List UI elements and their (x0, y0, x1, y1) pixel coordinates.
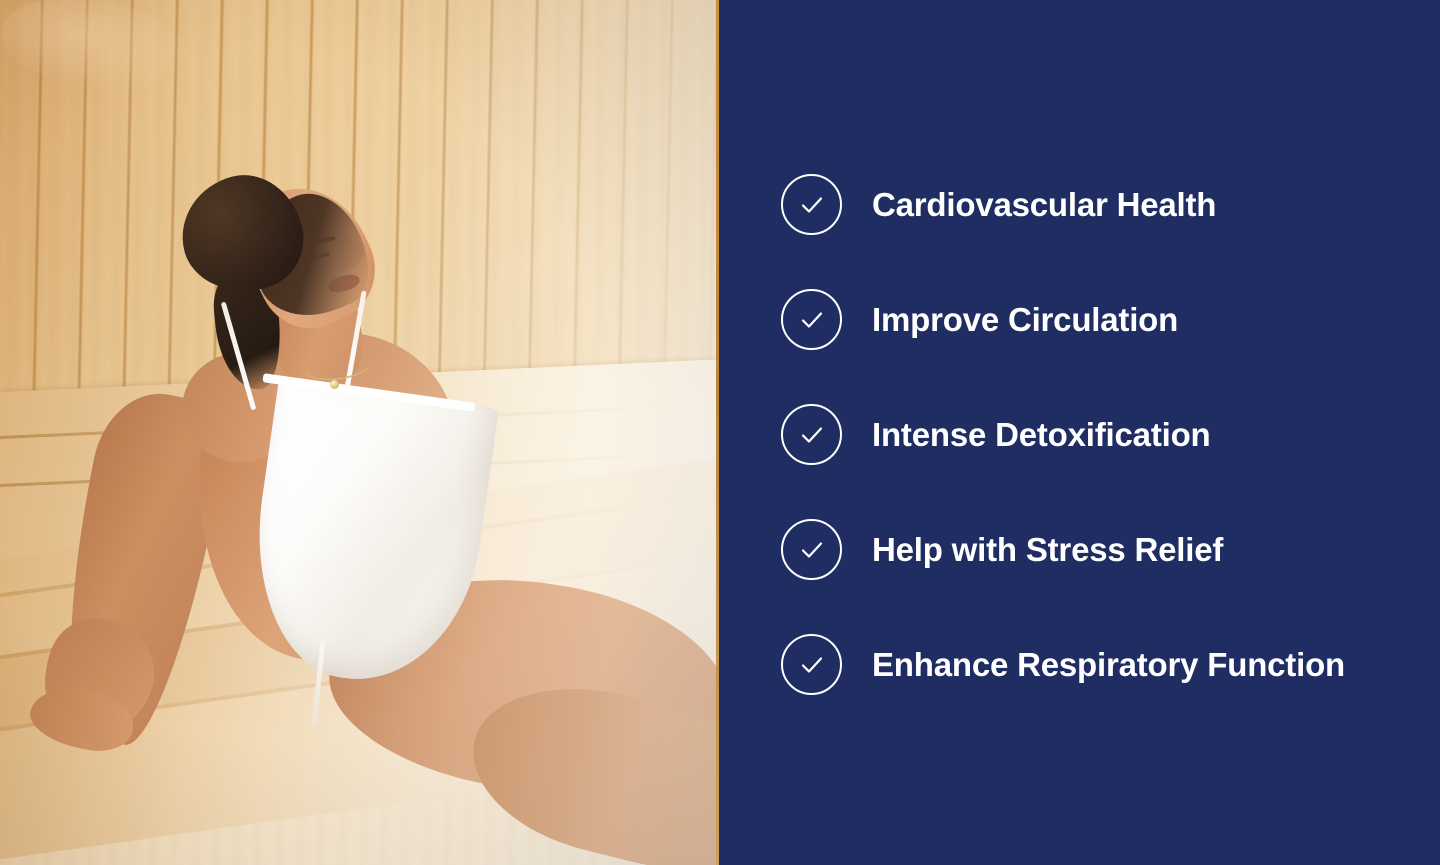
benefit-item-intense-detoxification: Intense Detoxification (781, 404, 1345, 465)
benefit-label: Enhance Respiratory Function (872, 648, 1345, 681)
benefit-item-enhance-respiratory-function: Enhance Respiratory Function (781, 634, 1345, 695)
benefits-panel: Cardiovascular Health Improve Circulatio… (719, 0, 1440, 865)
benefits-list: Cardiovascular Health Improve Circulatio… (781, 174, 1345, 695)
benefit-label: Improve Circulation (872, 303, 1178, 336)
check-circle-icon (781, 519, 842, 580)
benefit-label: Intense Detoxification (872, 418, 1211, 451)
benefit-label: Cardiovascular Health (872, 188, 1216, 221)
check-circle-icon (781, 634, 842, 695)
check-circle-icon (781, 174, 842, 235)
check-circle-icon (781, 289, 842, 350)
benefit-item-help-with-stress-relief: Help with Stress Relief (781, 519, 1345, 580)
check-circle-icon (781, 404, 842, 465)
benefit-label: Help with Stress Relief (872, 533, 1223, 566)
woman-figure (0, 0, 719, 865)
sauna-photo (0, 0, 719, 865)
sauna-benefits-banner: Cardiovascular Health Improve Circulatio… (0, 0, 1440, 865)
benefit-item-cardiovascular-health: Cardiovascular Health (781, 174, 1345, 235)
benefit-item-improve-circulation: Improve Circulation (781, 289, 1345, 350)
knee-highlight (0, 0, 197, 108)
necklace-pendant (330, 380, 339, 389)
